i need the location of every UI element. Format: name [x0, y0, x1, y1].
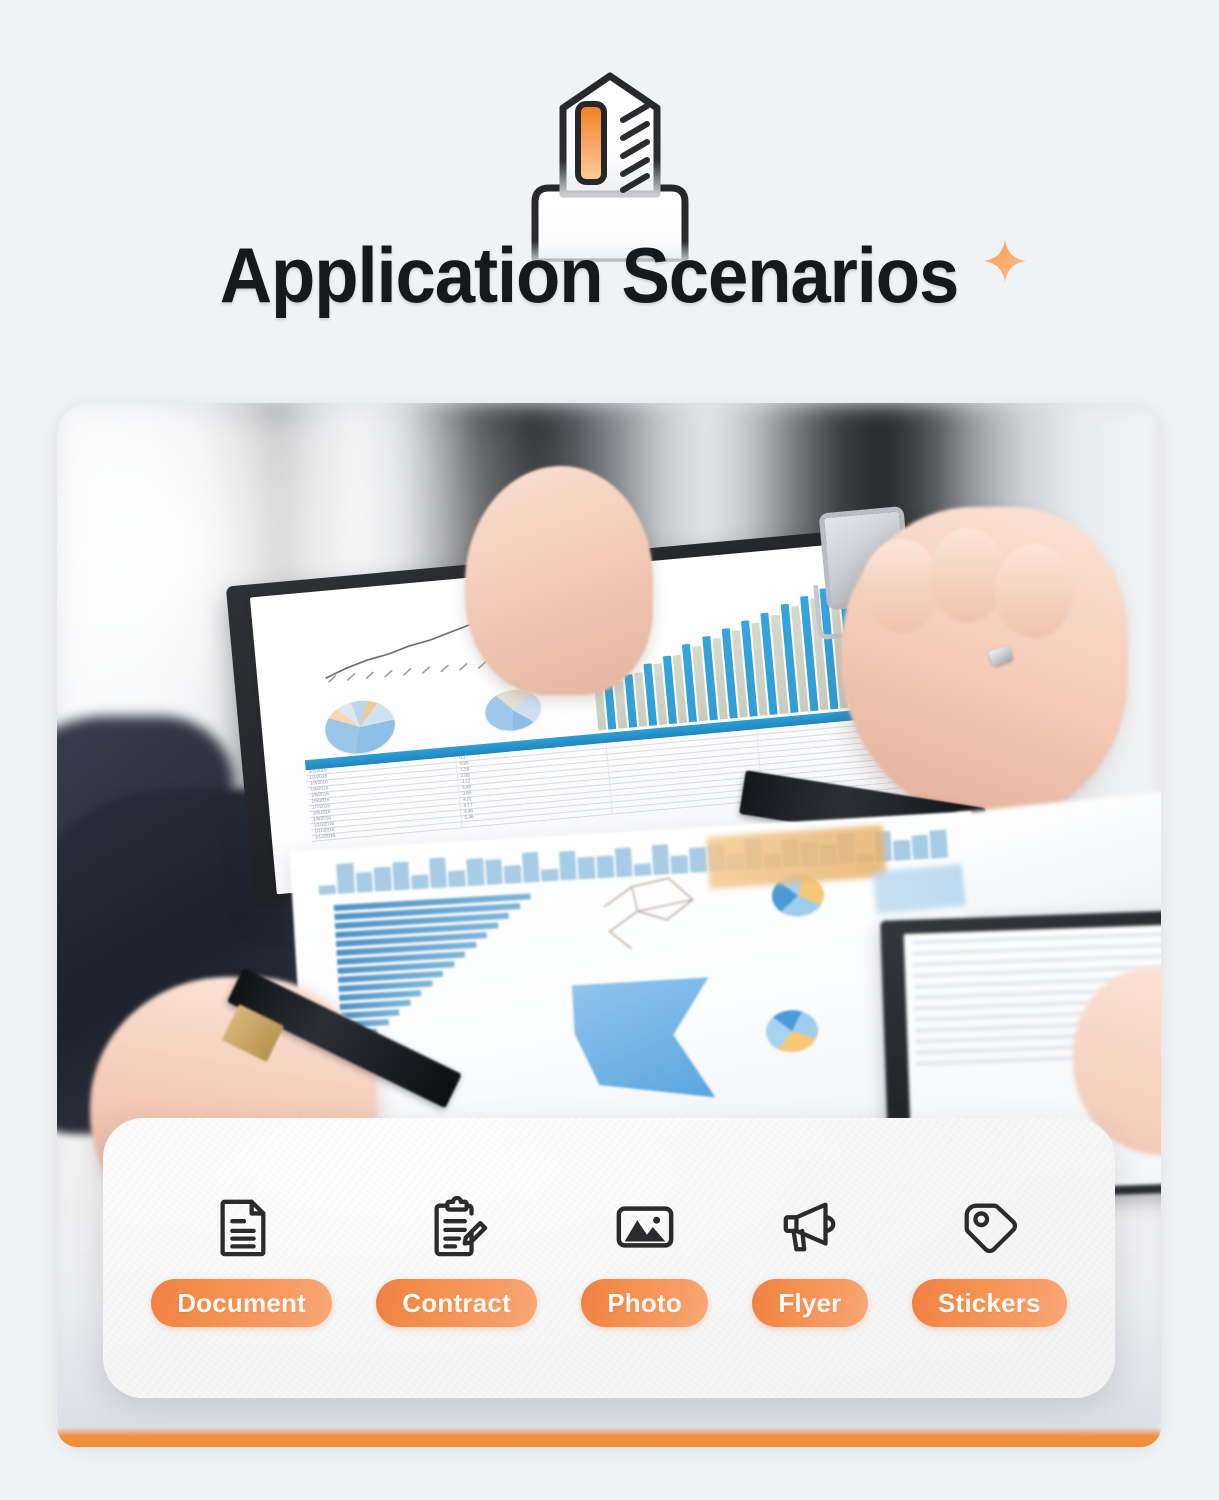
tag-pill-photo[interactable]: Photo — [581, 1279, 708, 1327]
ruled-line — [912, 931, 1161, 945]
mini-bar — [485, 859, 503, 885]
mini-bar — [911, 835, 929, 860]
sparkle-star-icon — [982, 238, 1028, 284]
tag-row: Document Contract — [103, 1118, 1115, 1398]
knuckle — [863, 539, 940, 633]
application-scenarios-page: Application Scenarios — [0, 0, 1219, 1500]
tag-item-flyer[interactable]: Flyer — [752, 1189, 867, 1327]
funnel-chart — [572, 977, 716, 1105]
mini-bar — [374, 867, 392, 892]
page-header: Application Scenarios — [0, 0, 1219, 390]
mini-bar — [504, 865, 522, 884]
mini-bar — [541, 869, 558, 882]
horizontal-bar — [340, 1000, 411, 1010]
mini-bar — [893, 840, 911, 861]
page-title: Application Scenarios — [219, 236, 957, 316]
pie-chart-left — [322, 696, 400, 760]
mini-bar — [559, 851, 577, 881]
mini-bar — [634, 864, 651, 877]
mini-bar — [614, 848, 632, 878]
tag-item-stickers[interactable]: Stickers — [912, 1189, 1067, 1327]
mini-bar — [466, 858, 484, 886]
mini-bar — [448, 870, 466, 887]
mini-bar — [578, 857, 596, 880]
tag-pill-document[interactable]: Document — [151, 1279, 332, 1327]
mini-bar — [689, 847, 707, 873]
mini-bar — [596, 855, 614, 878]
clipboard-pencil-icon — [419, 1189, 495, 1265]
tag-pill-contract[interactable]: Contract — [376, 1279, 537, 1327]
document-page-icon — [204, 1189, 280, 1265]
image-picture-icon — [607, 1189, 683, 1265]
mini-bar — [336, 863, 354, 894]
ruled-line — [913, 953, 1161, 967]
application-tags-card: Document Contract — [103, 1118, 1115, 1398]
tag-pill-stickers[interactable]: Stickers — [912, 1279, 1067, 1327]
hand-holding-clipboard — [465, 466, 653, 696]
page-title-row: Application Scenarios — [0, 236, 1219, 316]
knuckle — [995, 544, 1072, 638]
mini-bar — [411, 875, 428, 890]
mini-bar — [671, 855, 689, 874]
tag-pill-flyer[interactable]: Flyer — [752, 1279, 867, 1327]
mini-bar — [429, 857, 447, 888]
knuckle — [929, 528, 1006, 622]
mini-bar — [355, 872, 373, 893]
horizontal-bar — [340, 1010, 399, 1019]
mini-bar — [392, 862, 410, 891]
ruled-line — [912, 942, 1161, 956]
mini-bar — [319, 885, 336, 895]
megaphone-icon — [772, 1189, 848, 1265]
mini-bar — [651, 844, 669, 875]
price-tag-icon — [951, 1189, 1027, 1265]
tag-item-document[interactable]: Document — [151, 1189, 332, 1327]
network-chart — [572, 871, 727, 962]
mini-bar — [522, 852, 540, 883]
pie-chart-sheet-2 — [765, 1009, 819, 1054]
mini-bar — [930, 830, 948, 859]
tag-item-photo[interactable]: Photo — [581, 1189, 708, 1327]
tag-item-contract[interactable]: Contract — [376, 1189, 537, 1327]
